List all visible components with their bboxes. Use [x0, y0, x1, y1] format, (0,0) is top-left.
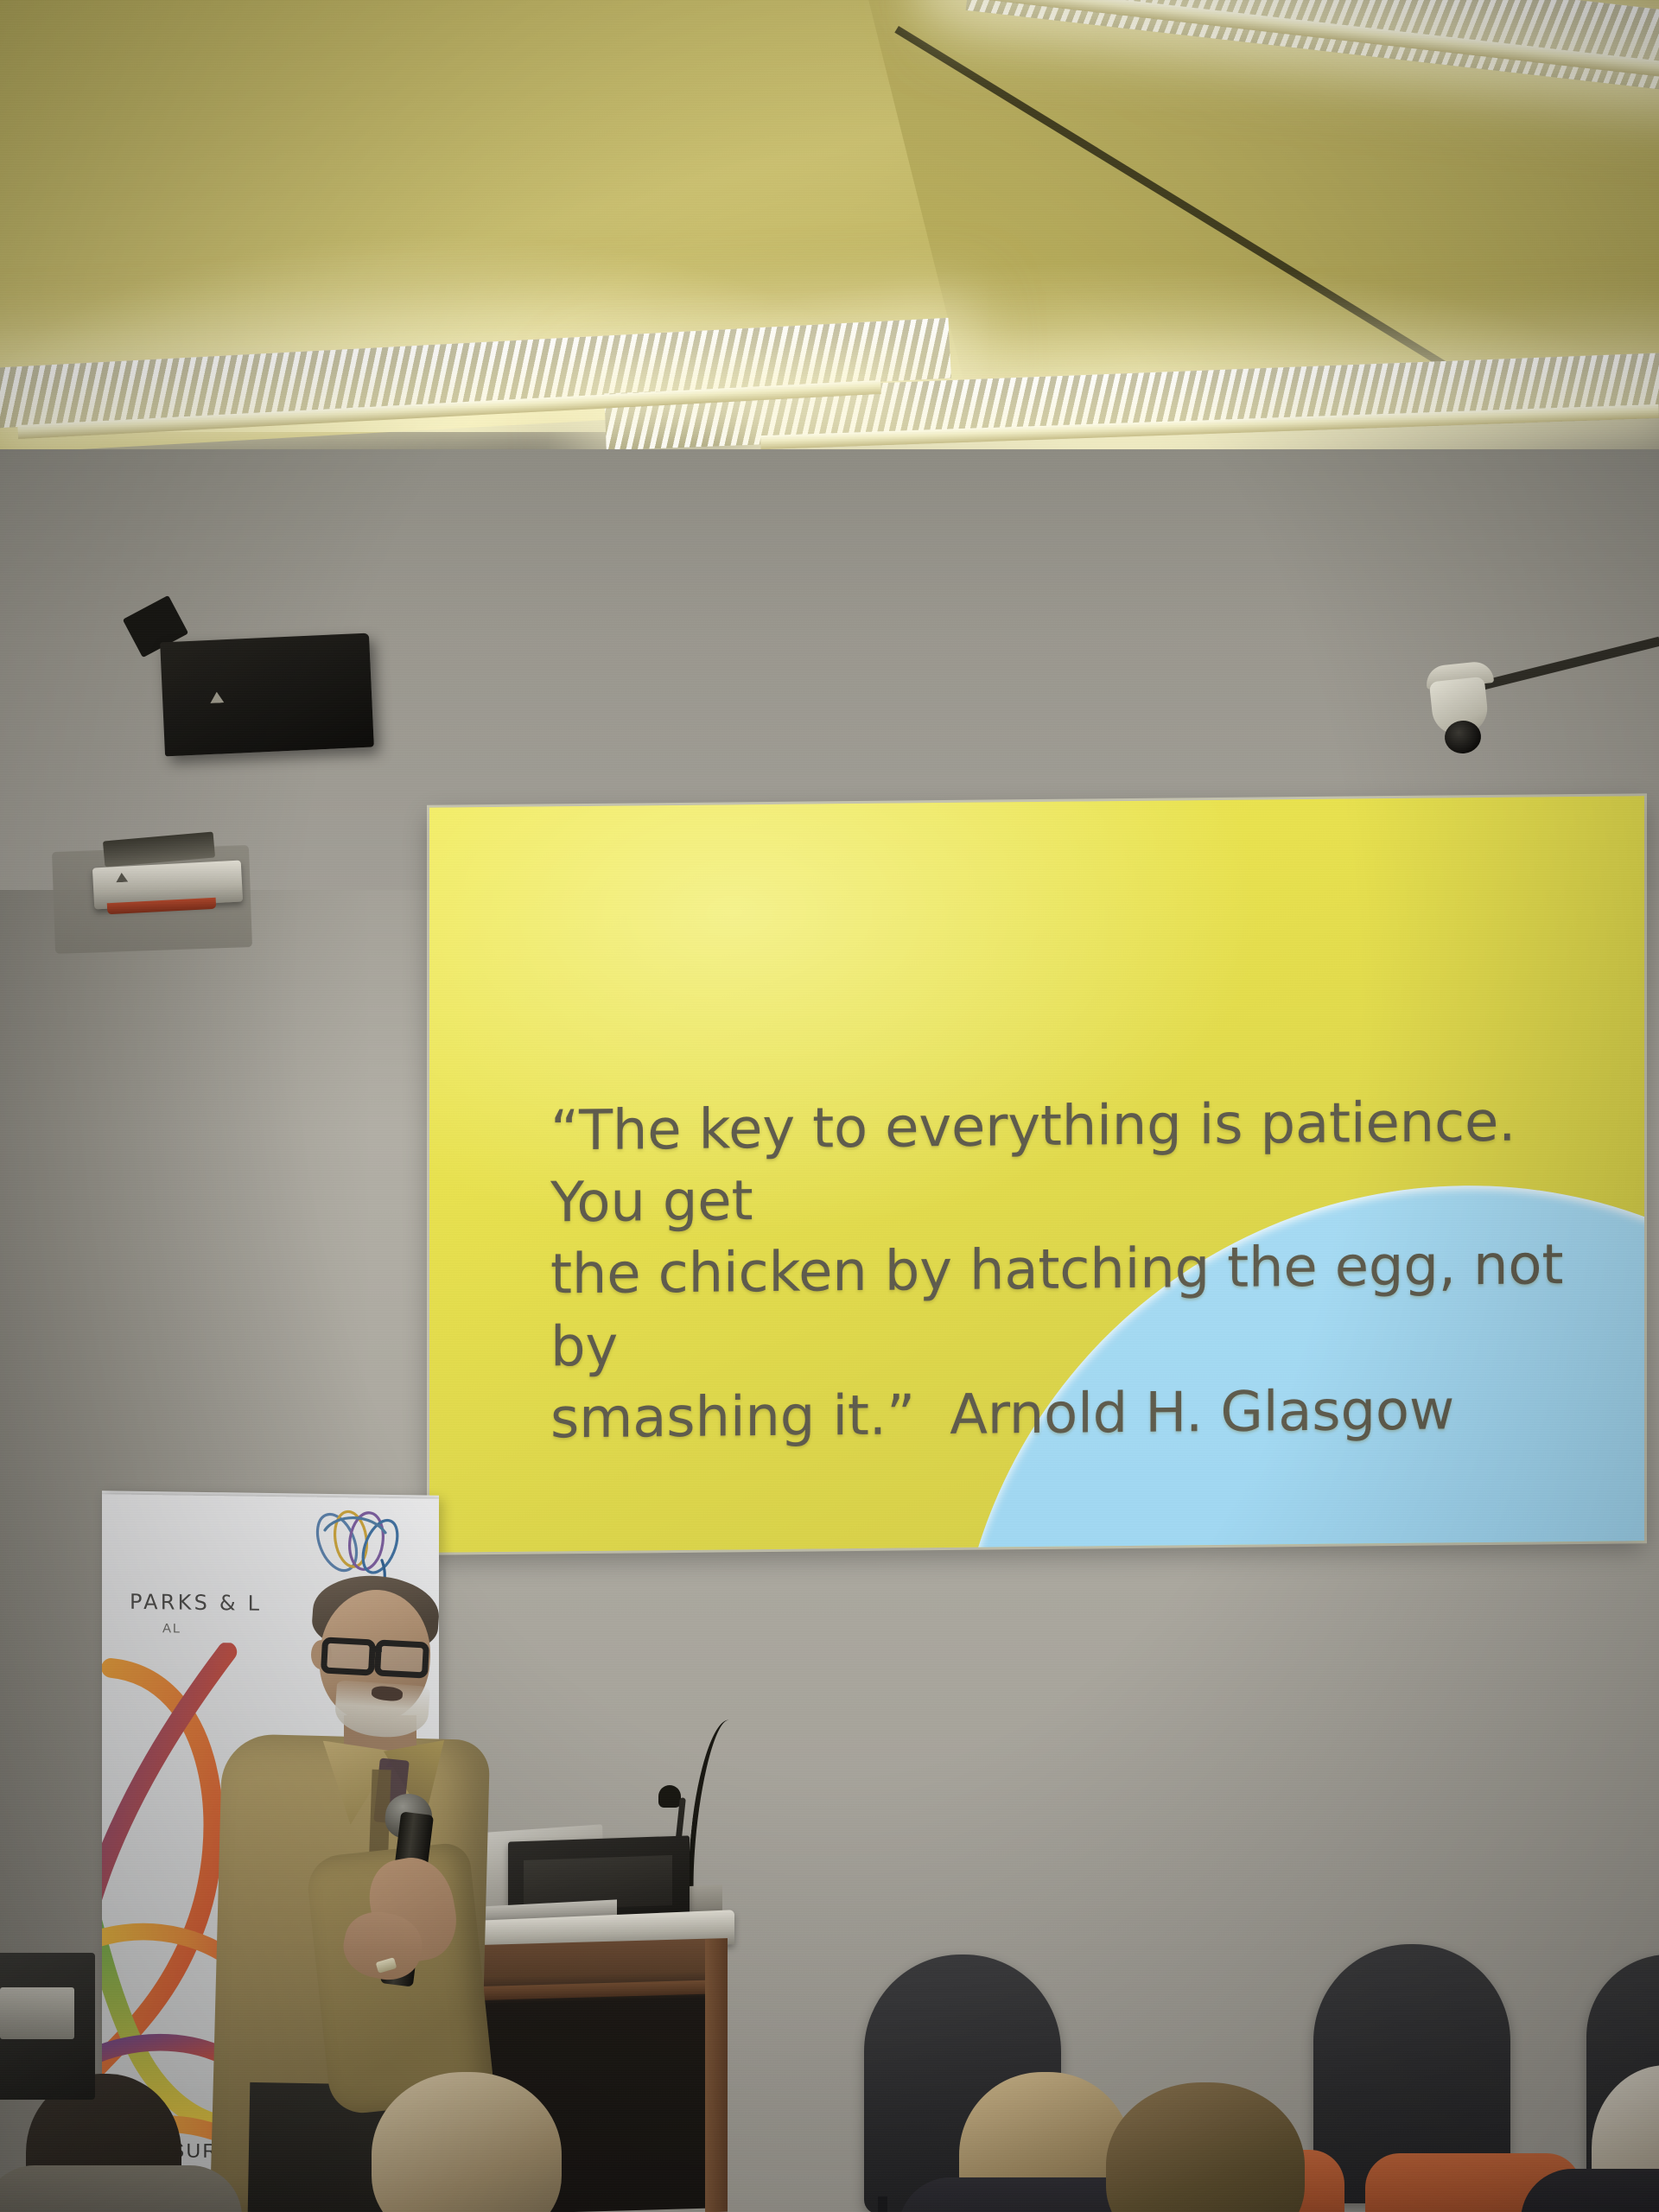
projection-screen: “The key to everything is patience. You …	[429, 796, 1644, 1552]
glasses-lens-left-icon	[321, 1637, 376, 1675]
speaker-logo-icon	[210, 691, 225, 703]
quote-line-1: “The key to everything is patience. You …	[550, 1086, 1579, 1240]
quote-line-3: smashing it.” Arnold H. Glasgow	[550, 1374, 1579, 1456]
audience-shoulder	[0, 2165, 242, 2212]
banner-subtitle: AL	[162, 1621, 181, 1636]
chair-leg	[878, 2196, 887, 2212]
slide-quote-text: “The key to everything is patience. You …	[550, 1086, 1579, 1455]
quote-line-2: the chicken by hatching the egg, not by	[550, 1230, 1579, 1383]
foreground-equipment-panel	[0, 1987, 74, 2039]
presentation-room-photo: “The key to everything is patience. You …	[0, 0, 1659, 2212]
podium-mic-capsule	[658, 1785, 681, 1808]
lectern-frame-right	[705, 1939, 728, 2212]
glasses-lens-right-icon	[374, 1639, 429, 1678]
wall-speaker	[160, 633, 374, 757]
